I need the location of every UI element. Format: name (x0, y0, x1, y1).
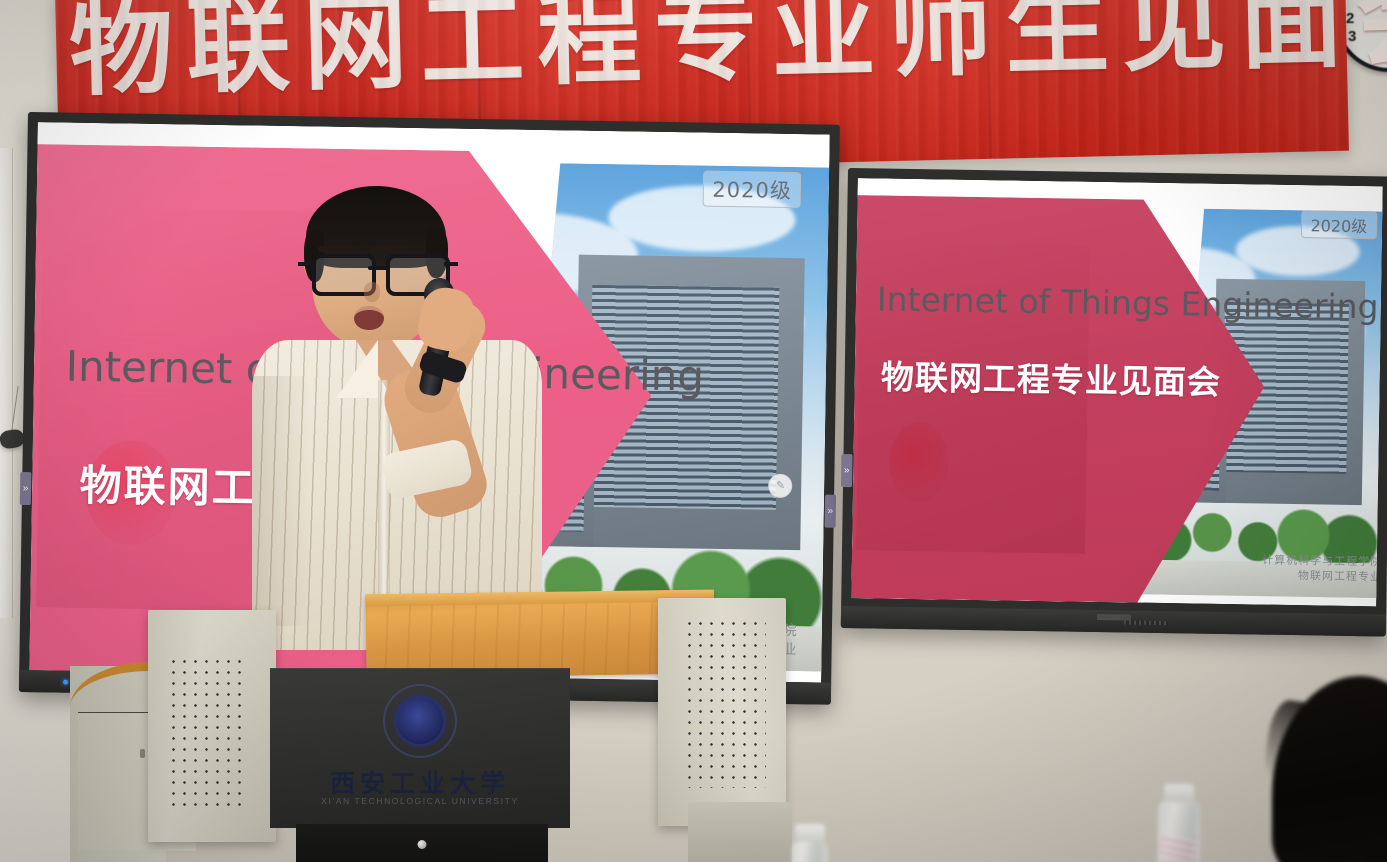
presenter-eyebrow-left (318, 246, 358, 252)
water-bottle-right (1158, 800, 1200, 862)
lectern: 西安工业大学 XI'AN TECHNOLOGICAL UNIVERSITY (48, 592, 790, 862)
whiteboard-edge (0, 148, 13, 618)
slide-right-footer: 计算机科学与工程学院 物联网工程专业 (1262, 554, 1382, 586)
banner-title: 物联网工程专业师生见面会 (55, 0, 1347, 104)
glasses-bridge (368, 266, 388, 270)
slide-right-footer-line1: 计算机科学与工程学院 (1262, 554, 1382, 571)
slide-right-english-title: Internet of Things Engineering (877, 279, 1379, 326)
slide-right-year-badge: 2020级 (1301, 210, 1377, 239)
interactive-flat-panel-right[interactable]: Internet of Things Engineering 物联网工程专业见面… (841, 168, 1387, 637)
university-name-cn: 西安工业大学 (270, 764, 570, 800)
glasses-temple-left (298, 262, 312, 266)
lectern-front-panel: 西安工业大学 XI'AN TECHNOLOGICAL UNIVERSITY (270, 668, 570, 828)
presenter-mouth (354, 306, 384, 330)
shirt-collar-left (336, 340, 378, 398)
shirt-sleeve-shadow (252, 376, 310, 626)
university-name-en: XI'AN TECHNOLOGICAL UNIVERSITY (270, 796, 570, 806)
glasses-temple-right (444, 262, 458, 266)
university-seal-inner (397, 698, 443, 744)
panel-side-key-right-edge[interactable]: » (825, 495, 837, 528)
lectern-drawer-lock-icon (140, 749, 145, 758)
lectern-cabinet-knob-icon[interactable] (418, 840, 427, 849)
panel-side-key-left[interactable]: » (20, 472, 32, 505)
screen-right-inner: Internet of Things Engineering 物联网工程专业见面… (851, 178, 1383, 606)
lectern-cabinet[interactable] (296, 824, 548, 862)
slide-right-footer-line2: 物联网工程专业 (1262, 569, 1382, 586)
presenter-nose (364, 282, 380, 302)
panel-side-key-right[interactable]: » (841, 454, 853, 487)
slide-left-year-badge: 2020级 (703, 171, 802, 209)
slide-right: Internet of Things Engineering 物联网工程专业见面… (851, 178, 1383, 606)
water-bottle-left (792, 840, 828, 862)
lectern-leg-right (688, 802, 792, 862)
speaker-grill-left (168, 656, 246, 806)
glasses-icon (310, 254, 446, 288)
bottle-cap-icon (1164, 784, 1194, 802)
bottle-cap-icon (795, 824, 825, 842)
university-seal-icon (383, 684, 457, 758)
lecture-room-photo: 2 3 物联网工程专业师生见面会 (0, 0, 1387, 862)
presenter (252, 178, 542, 648)
lectern-speaker-left (148, 610, 276, 842)
speaker-grill-right (684, 618, 766, 788)
slide-right-chinese-title: 物联网工程专业见面会 (881, 351, 1222, 404)
screen-right-surface[interactable]: Internet of Things Engineering 物联网工程专业见面… (851, 178, 1383, 606)
bezel-vents (1124, 620, 1168, 625)
bottle-label (1160, 838, 1198, 862)
lectern-speaker-right (658, 598, 786, 826)
presenter-eyebrow-right (370, 246, 410, 252)
